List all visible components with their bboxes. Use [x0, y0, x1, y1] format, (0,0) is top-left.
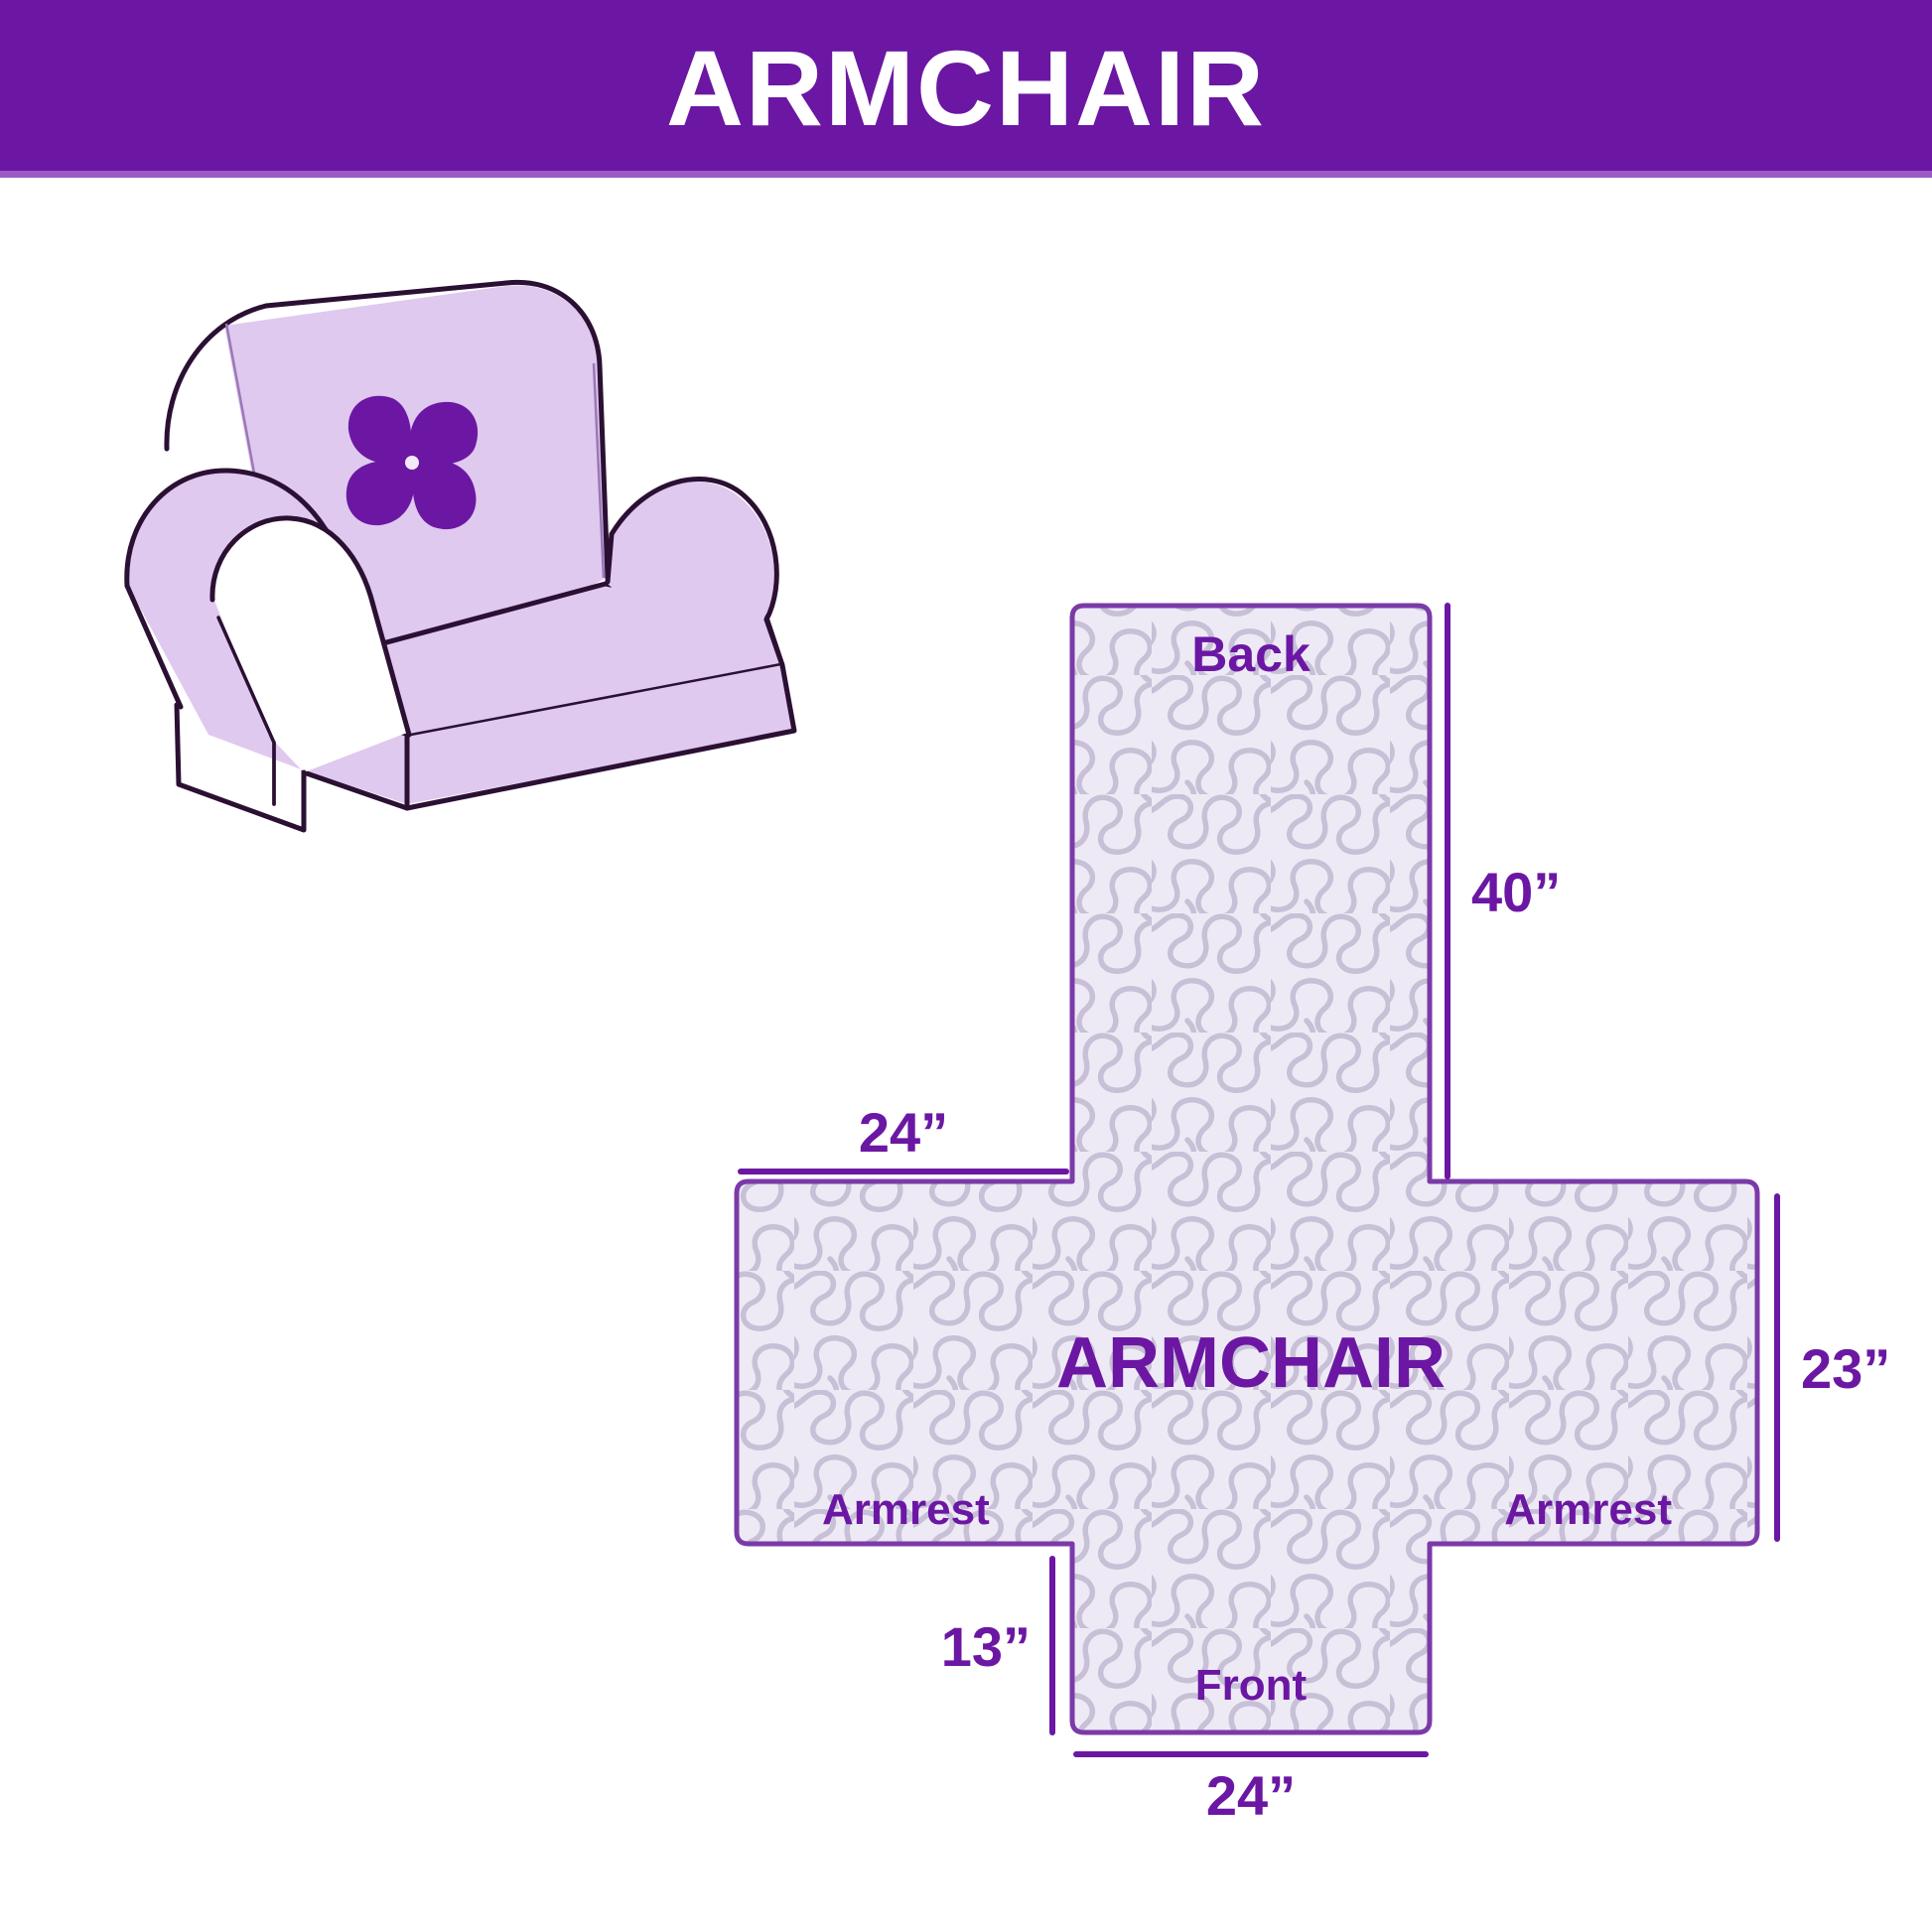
dimension-value-back-height: 40”: [1471, 861, 1561, 923]
dimension-value-armrest-depth: 23”: [1801, 1337, 1890, 1400]
panel-label-center: ARMCHAIR: [1056, 1323, 1446, 1403]
dimension-armrest-depth: 23”: [1777, 1196, 1890, 1539]
slipcover-cross-diagram: Back ARMCHAIR Armrest Armrest Front 40” …: [556, 556, 1932, 1847]
dimension-front-height: 13”: [941, 1559, 1052, 1732]
dimension-value-front-height: 13”: [941, 1615, 1031, 1678]
header-underline-divider: [0, 171, 1932, 178]
dimension-value-front-width: 24”: [1206, 1764, 1296, 1827]
panel-label-armrest-left: Armrest: [822, 1485, 990, 1534]
header-banner: ARMCHAIR: [0, 0, 1932, 177]
panel-label-front: Front: [1195, 1661, 1308, 1710]
product-dimension-diagram-page: ARMCHAIR .oln { fill:none; stroke:#2B103…: [0, 0, 1932, 1932]
dimension-back-height: 40”: [1448, 606, 1561, 1176]
dimension-back-width: 24”: [741, 1101, 1066, 1172]
panel-label-back: Back: [1191, 626, 1311, 682]
dimension-front-width: 24”: [1076, 1754, 1426, 1827]
panel-label-armrest-right: Armrest: [1504, 1485, 1672, 1534]
page-title: ARMCHAIR: [666, 35, 1266, 142]
dimension-value-back-width: 24”: [859, 1101, 948, 1164]
